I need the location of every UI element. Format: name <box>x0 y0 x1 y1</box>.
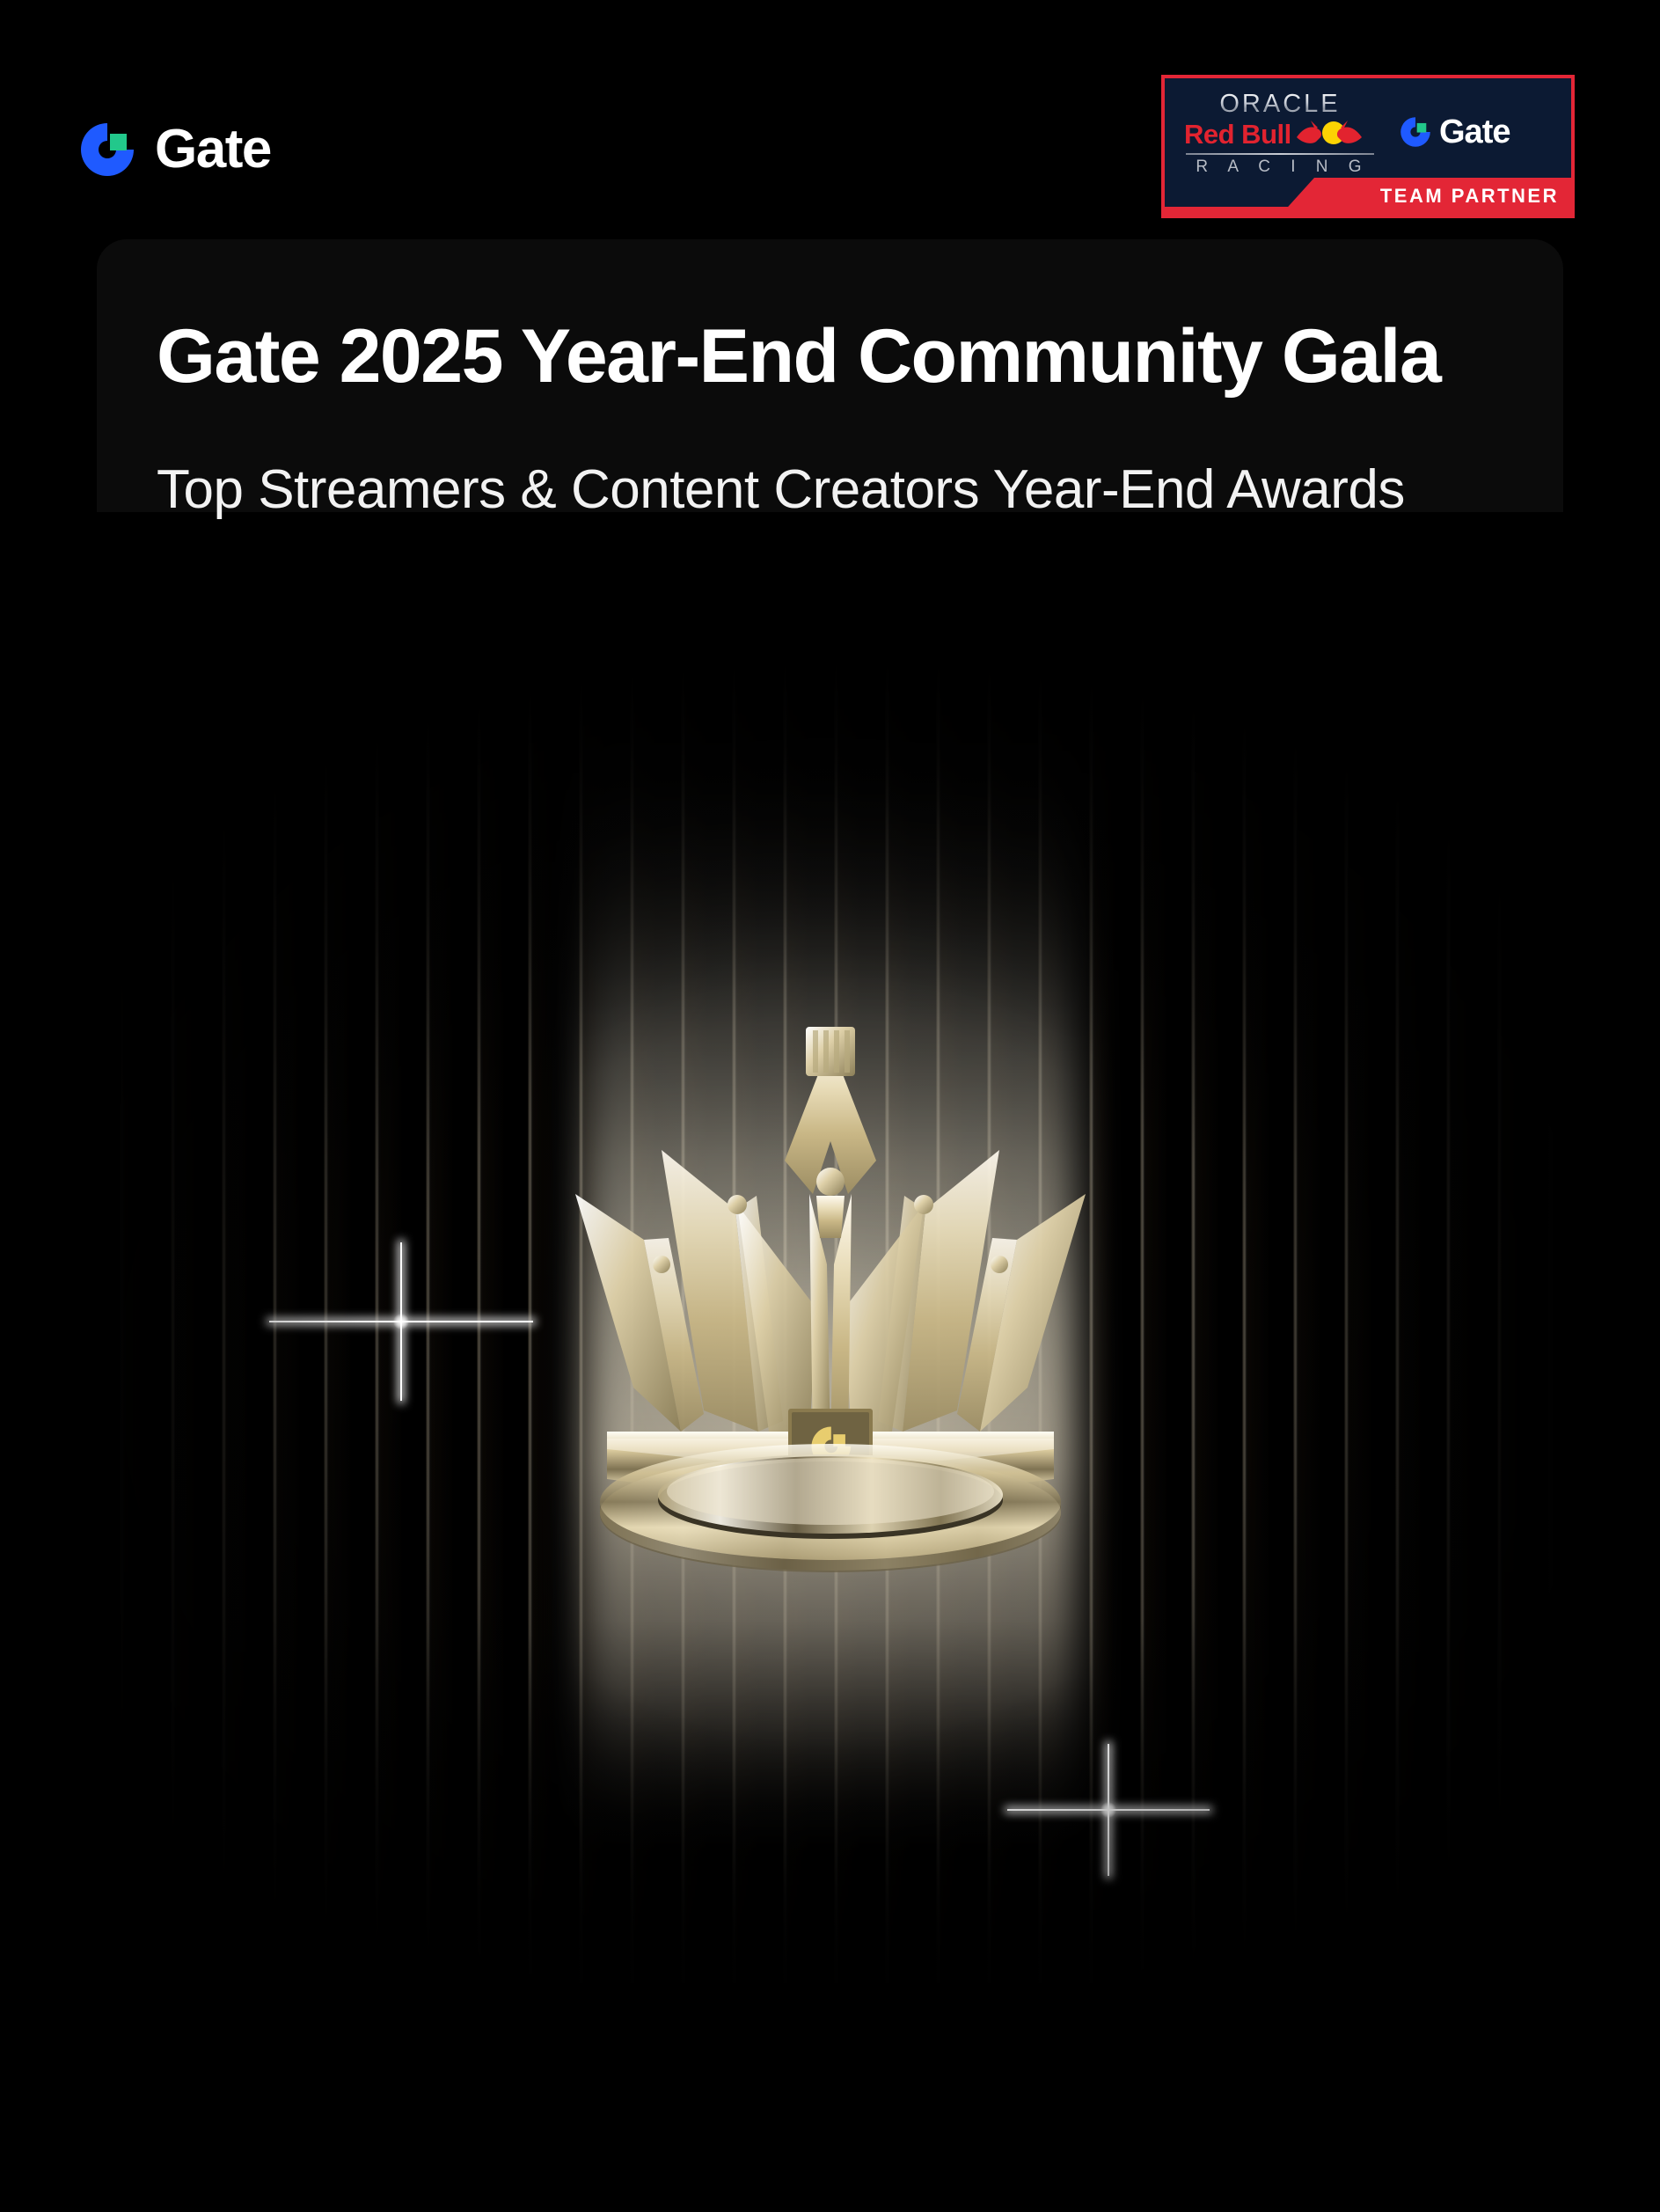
page-title: Gate 2025 Year-End Community Gala <box>157 311 1503 401</box>
oracle-red-bull-racing-lockup: ORACLE Red Bull R A C I N G <box>1184 91 1376 175</box>
oracle-text: ORACLE <box>1184 91 1376 117</box>
red-bull-icon <box>1295 119 1364 149</box>
gate-logo-icon <box>77 120 137 179</box>
team-partner-text: TEAM PARTNER <box>1380 187 1559 206</box>
page-root: Gate ORACLE Red Bull <box>0 0 1660 2212</box>
card-text-block: Gate 2025 Year-End Community Gala Top St… <box>97 239 1563 522</box>
team-partner-strip: TEAM PARTNER <box>1281 178 1571 215</box>
hero-image <box>97 512 1563 2052</box>
gate-brand-logo[interactable]: Gate <box>77 120 271 179</box>
racing-text: R A C I N G <box>1184 158 1376 175</box>
red-bull-row: Red Bull <box>1184 119 1376 149</box>
badge-divider <box>1186 153 1374 155</box>
page-header: Gate ORACLE Red Bull <box>0 0 1660 239</box>
bottom-fade <box>0 1983 1660 2212</box>
badge-gate-logo: Gate <box>1399 115 1510 149</box>
event-card: Gate 2025 Year-End Community Gala Top St… <box>97 239 1563 2052</box>
oracle-red-bull-racing-partner-badge[interactable]: ORACLE Red Bull R A C I N G <box>1161 75 1575 218</box>
gate-wordmark: Gate <box>155 122 271 177</box>
page-subtitle: Top Streamers & Content Creators Year-En… <box>157 458 1503 522</box>
badge-gate-wordmark: Gate <box>1439 115 1510 149</box>
crystal-crown-icon <box>549 974 1112 1590</box>
red-bull-text: Red Bull <box>1184 121 1291 148</box>
gate-logo-icon <box>1399 115 1432 149</box>
